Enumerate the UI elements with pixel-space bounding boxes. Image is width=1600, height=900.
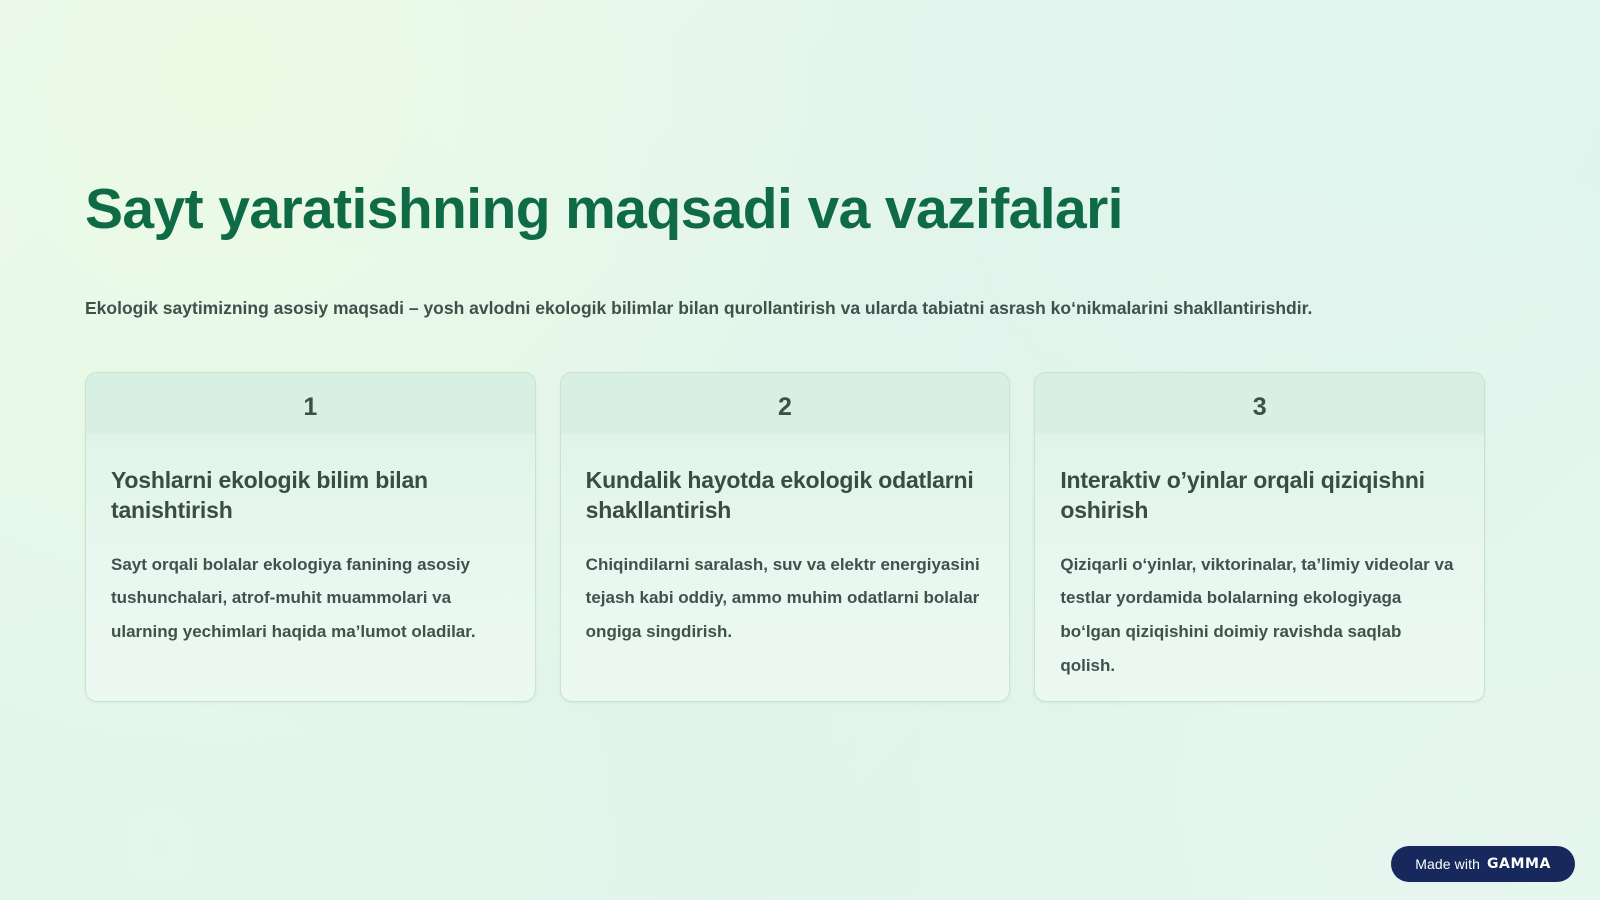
card-heading: Kundalik hayotda ekologik odatlarni shak… xyxy=(586,465,985,526)
gamma-wordmark: GAMMA xyxy=(1487,857,1551,871)
objective-card-2: 2 Kundalik hayotda ekologik odatlarni sh… xyxy=(560,372,1011,702)
objective-card-1: 1 Yoshlarni ekologik bilim bilan tanisht… xyxy=(85,372,536,702)
card-body: Kundalik hayotda ekologik odatlarni shak… xyxy=(586,465,985,649)
badge-prefix-label: Made with xyxy=(1415,857,1480,871)
card-heading: Interaktiv o’yinlar orqali qiziqishni os… xyxy=(1060,465,1459,526)
card-number-badge: 2 xyxy=(561,395,1010,420)
slide-content: Sayt yaratishning maqsadi va vazifalari … xyxy=(85,0,1485,900)
card-description: Sayt orqali bolalar ekologiya fanining a… xyxy=(111,548,510,649)
card-body: Yoshlarni ekologik bilim bilan tanishtir… xyxy=(111,465,510,649)
objective-card-row: 1 Yoshlarni ekologik bilim bilan tanisht… xyxy=(85,372,1485,702)
made-with-gamma-badge[interactable]: Made with GAMMA xyxy=(1391,846,1575,882)
card-description: Qiziqarli o‘yinlar, viktorinalar, ta’lim… xyxy=(1060,548,1459,683)
card-description: Chiqindilarni saralash, suv va elektr en… xyxy=(586,548,985,649)
card-number-badge: 1 xyxy=(86,395,535,420)
card-number-badge: 3 xyxy=(1035,395,1484,420)
slide-canvas: Sayt yaratishning maqsadi va vazifalari … xyxy=(0,0,1600,900)
page-title: Sayt yaratishning maqsadi va vazifalari xyxy=(85,178,1123,242)
lead-paragraph: Ekologik saytimizning asosiy maqsadi – y… xyxy=(85,294,1423,322)
card-body: Interaktiv o’yinlar orqali qiziqishni os… xyxy=(1060,465,1459,682)
card-heading: Yoshlarni ekologik bilim bilan tanishtir… xyxy=(111,465,510,526)
objective-card-3: 3 Interaktiv o’yinlar orqali qiziqishni … xyxy=(1034,372,1485,702)
